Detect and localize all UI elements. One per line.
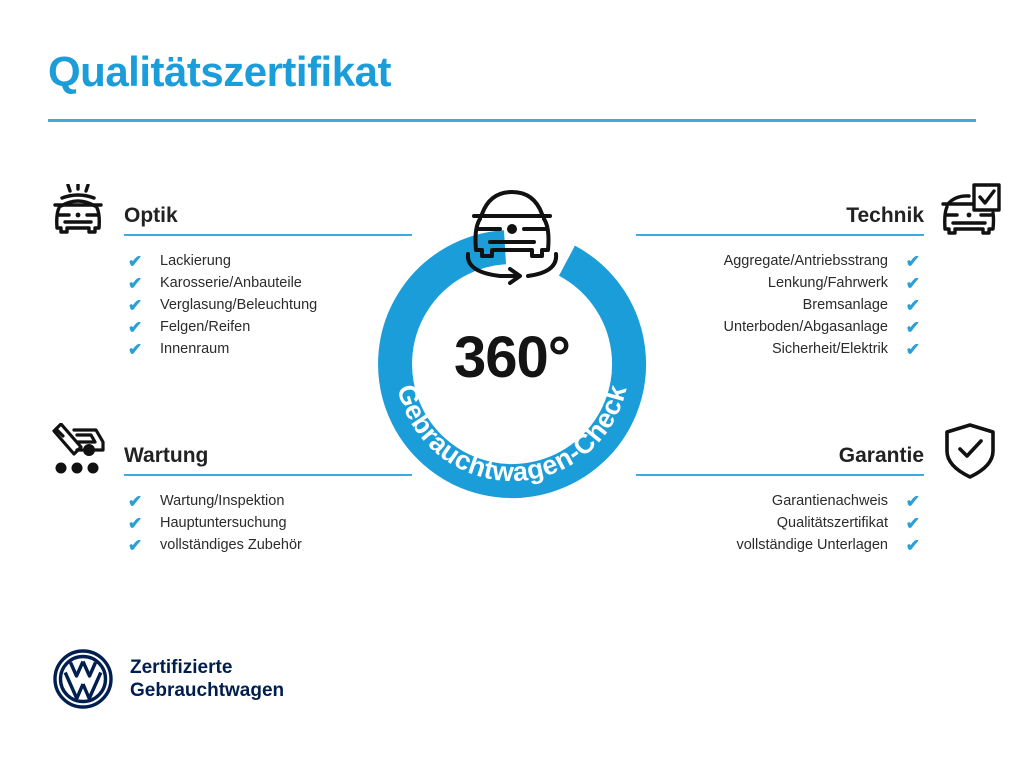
- check-icon: ✔: [898, 319, 920, 336]
- section-divider: [636, 234, 924, 236]
- car-service-pencil-icon: [42, 420, 114, 482]
- badge-center-text: 360°: [362, 324, 662, 391]
- list-item-label: Sicherheit/Elektrik: [772, 341, 888, 357]
- list-item: Sicherheit/Elektrik ✔: [608, 338, 1008, 360]
- check-icon: ✔: [128, 493, 150, 510]
- list-item-label: Wartung/Inspektion: [160, 493, 284, 509]
- check-icon: ✔: [898, 493, 920, 510]
- volkswagen-logo: [52, 648, 114, 710]
- list-item: vollständige Unterlagen ✔: [608, 534, 1008, 556]
- section-title-wartung: Wartung: [124, 444, 208, 468]
- title-divider: [48, 119, 976, 122]
- list-item: Unterboden/Abgasanlage ✔: [608, 316, 1008, 338]
- list-item-label: Qualitätszertifikat: [777, 515, 888, 531]
- badge-curved-text: Gebrauchtwagen-Check: [391, 381, 632, 488]
- check-icon: ✔: [128, 319, 150, 336]
- list-item: Aggregate/Antriebsstrang ✔: [608, 250, 1008, 272]
- checklist-technik: Aggregate/Antriebsstrang ✔ Lenkung/Fahrw…: [608, 250, 1008, 360]
- volkswagen-lockup: Zertifizierte Gebrauchtwagen: [52, 648, 284, 710]
- section-title-garantie: Garantie: [839, 444, 924, 468]
- check-icon: ✔: [898, 297, 920, 314]
- section-garantie: Garantie Garantienachweis ✔ Qualitätszer…: [608, 420, 1008, 556]
- list-item: Qualitätszertifikat ✔: [608, 512, 1008, 534]
- car-front-checkbox-icon: [934, 180, 1006, 242]
- lockup-line-2: Gebrauchtwagen: [130, 679, 284, 702]
- list-item-label: Unterboden/Abgasanlage: [724, 319, 888, 335]
- check-icon: ✔: [898, 515, 920, 532]
- badge-360-gebrauchtwagen-check: Gebrauchtwagen-Check 360°: [362, 172, 662, 512]
- list-item: ✔ vollständiges Zubehör: [40, 534, 440, 556]
- list-item-label: Lackierung: [160, 253, 231, 269]
- section-divider: [636, 474, 924, 476]
- list-item-label: Aggregate/Antriebsstrang: [724, 253, 888, 269]
- check-icon: ✔: [898, 537, 920, 554]
- checklist-garantie: Garantienachweis ✔ Qualitätszertifikat ✔…: [608, 490, 1008, 556]
- check-icon: ✔: [128, 537, 150, 554]
- list-item-label: Innenraum: [160, 341, 229, 357]
- lockup-line-1: Zertifizierte: [130, 656, 284, 679]
- svg-text:Gebrauchtwagen-Check: Gebrauchtwagen-Check: [391, 381, 632, 488]
- section-header: Technik: [608, 180, 1008, 242]
- list-item-label: Verglasung/Beleuchtung: [160, 297, 317, 313]
- list-item: Bremsanlage ✔: [608, 294, 1008, 316]
- check-icon: ✔: [898, 253, 920, 270]
- page-title: Qualitätszertifikat: [48, 48, 391, 96]
- section-technik: Technik Aggregate/Antriebsstrang ✔ Lenku…: [608, 180, 1008, 360]
- section-title-technik: Technik: [846, 204, 924, 228]
- certificate-page: Qualitätszertifikat: [0, 0, 1024, 768]
- section-title-optik: Optik: [124, 204, 178, 228]
- check-icon: ✔: [128, 515, 150, 532]
- section-header: Garantie: [608, 420, 1008, 482]
- shield-check-icon: [934, 420, 1006, 482]
- check-icon: ✔: [128, 341, 150, 358]
- list-item-label: vollständiges Zubehör: [160, 537, 302, 553]
- check-icon: ✔: [128, 297, 150, 314]
- list-item-label: Felgen/Reifen: [160, 319, 250, 335]
- check-icon: ✔: [898, 341, 920, 358]
- volkswagen-lockup-text: Zertifizierte Gebrauchtwagen: [130, 656, 284, 702]
- list-item-label: Karosserie/Anbauteile: [160, 275, 302, 291]
- list-item: ✔ Hauptuntersuchung: [40, 512, 440, 534]
- check-icon: ✔: [898, 275, 920, 292]
- list-item-label: vollständige Unterlagen: [736, 537, 888, 553]
- car-front-lights-icon: [42, 180, 114, 242]
- list-item-label: Lenkung/Fahrwerk: [768, 275, 888, 291]
- list-item: Garantienachweis ✔: [608, 490, 1008, 512]
- list-item-label: Bremsanlage: [803, 297, 888, 313]
- check-icon: ✔: [128, 253, 150, 270]
- list-item: Lenkung/Fahrwerk ✔: [608, 272, 1008, 294]
- list-item-label: Garantienachweis: [772, 493, 888, 509]
- list-item-label: Hauptuntersuchung: [160, 515, 287, 531]
- check-icon: ✔: [128, 275, 150, 292]
